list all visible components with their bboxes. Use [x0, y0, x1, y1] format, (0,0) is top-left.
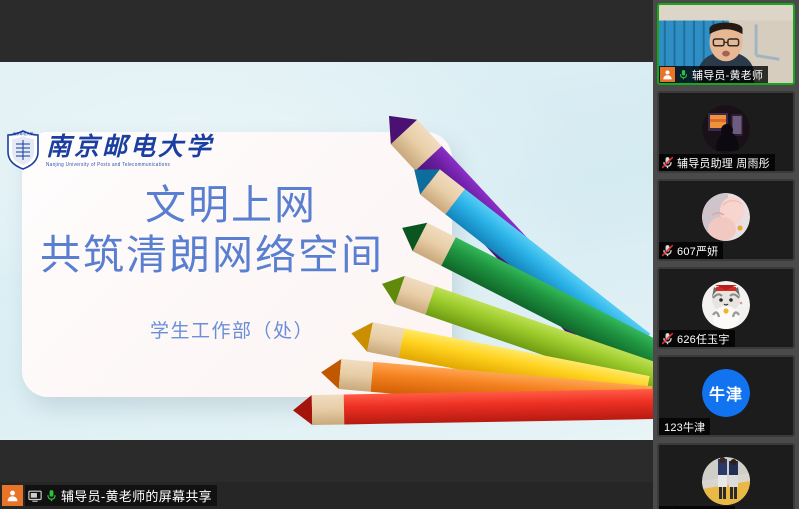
participant-tile[interactable]: 辅导员-黄老师	[657, 3, 795, 85]
university-logo: 南京邮电大学 南京邮电大学 Nanjing University of Post…	[0, 124, 320, 176]
screen-share-status-bar: 辅导员-黄老师的屏幕共享	[0, 482, 653, 509]
university-shield-icon: 南京邮电大学	[6, 130, 40, 170]
microphone-icon	[45, 489, 58, 502]
presentation-slide: 南京邮电大学 南京邮电大学 Nanjing University of Post…	[0, 62, 653, 440]
slide-title-line-2: 共筑清朗网络空间	[40, 230, 384, 280]
participant-tile[interactable]: 626任玉宇	[657, 267, 795, 349]
participant-icon	[2, 485, 23, 506]
microphone-icon	[678, 69, 689, 80]
participant-name: 辅导员助理 周雨彤	[677, 155, 770, 171]
screen-share-icon	[28, 489, 42, 503]
slide-subtitle: 学生工作部（处）	[150, 316, 314, 343]
participant-label: 辅导员助理 周雨彤	[659, 154, 775, 171]
participant-label: 607严妍	[659, 242, 723, 259]
participant-icon	[660, 67, 675, 82]
avatar	[702, 105, 750, 153]
participant-name: 123牛津	[661, 419, 705, 435]
avatar	[702, 193, 750, 241]
participant-label: 626任玉宇	[659, 330, 735, 347]
avatar	[702, 281, 750, 329]
share-status-chip: 辅导员-黄老师的屏幕共享	[25, 485, 217, 506]
avatar-initials: 牛津	[702, 369, 750, 417]
participant-tile[interactable]: 607严妍	[657, 179, 795, 261]
microphone-muted-icon	[661, 244, 674, 257]
participant-label: 123牛津	[659, 418, 710, 435]
participant-tile[interactable]: 621詹欣琪	[657, 443, 795, 509]
participant-name: 607严妍	[677, 243, 718, 259]
avatar: 牛津	[702, 369, 750, 417]
shared-screen-area: 南京邮电大学 南京邮电大学 Nanjing University of Post…	[0, 0, 653, 509]
slide-title-block: 文明上网 共筑清朗网络空间	[40, 180, 384, 280]
participant-label: 辅导员-黄老师	[659, 66, 768, 83]
university-logo-cn: 南京邮电大学	[46, 134, 214, 159]
participant-tile[interactable]: 辅导员助理 周雨彤	[657, 91, 795, 173]
microphone-muted-icon	[661, 156, 674, 169]
participant-rail[interactable]: 辅导员-黄老师 辅导员助理 周雨彤	[653, 0, 799, 509]
avatar	[702, 457, 750, 505]
participant-tile[interactable]: 牛津 123牛津	[657, 355, 795, 437]
participant-name: 626任玉宇	[677, 331, 730, 347]
svg-text:南京邮电大学: 南京邮电大学	[13, 131, 34, 136]
share-status-label: 辅导员-黄老师的屏幕共享	[61, 486, 212, 505]
microphone-muted-icon	[661, 332, 674, 345]
university-logo-en: Nanjing University of Posts and Telecomm…	[46, 162, 214, 168]
participant-name: 辅导员-黄老师	[692, 67, 763, 83]
slide-title-line-1: 文明上网	[145, 180, 384, 230]
